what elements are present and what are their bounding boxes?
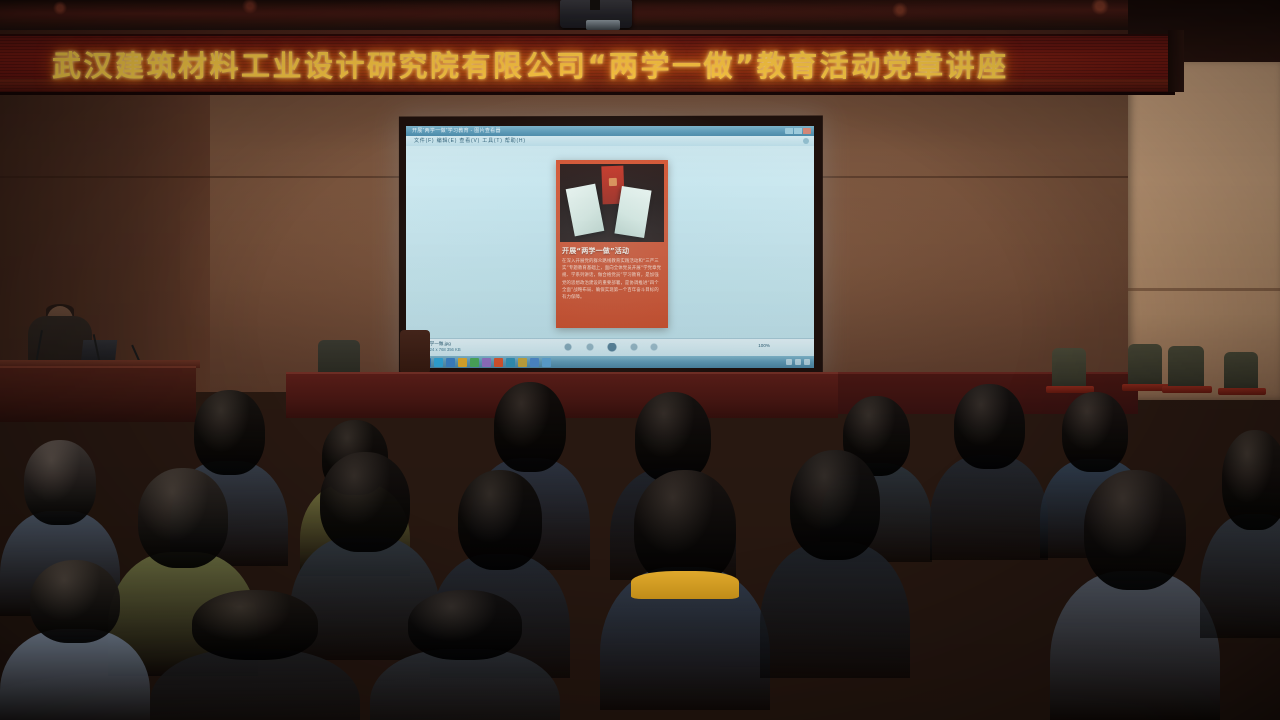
attendee-head [138,468,228,568]
attendee-head [194,390,265,475]
attendee-head [408,590,522,660]
attendee-glasses [1050,470,1220,710]
taskbar-app-icon[interactable] [446,358,455,367]
taskbar-app-icon[interactable] [518,358,527,367]
attendee-head [634,470,736,585]
podium [0,366,196,422]
seat-rail [1162,386,1212,393]
attendee-head [30,560,120,643]
taskbar-app-icon[interactable] [470,358,479,367]
toolbar-menu-items[interactable]: 文件(F) 编辑(E) 查看(V) 工具(T) 帮助(H) [414,137,526,144]
attendee-head [458,470,542,570]
attendee-head [790,450,880,560]
taskbar-app-icon[interactable] [494,358,503,367]
taskbar-app-icon[interactable] [542,358,551,367]
tray-icon[interactable] [786,359,792,365]
attendee-head [24,440,96,525]
attendee-head [1062,392,1128,472]
tray-icon[interactable] [804,359,810,365]
attendee-head [494,382,566,472]
taskbar-icon-group[interactable] [410,357,551,367]
poster-photo [560,164,664,242]
slide-poster: 开展“两学一做”活动 在深入开展党的群众路线教育实践活动和“三严三实”专题教育基… [556,160,668,328]
attendee-head [1084,470,1186,590]
window-title: 开展“两学一做”学习教育 - 图片查看器 [412,127,501,134]
conference-hall-photo: 武汉建筑材料工业设计研究院有限公司“两学一做”教育活动党章讲座 开展“两学一做”… [0,0,1280,720]
attendee-torso [1200,514,1280,638]
system-tray[interactable] [786,358,810,366]
taskbar-app-icon[interactable] [482,358,491,367]
attendee-foreground-head [150,590,360,720]
file-meta-label: 1024 x 768 356 KB [425,347,461,352]
led-banner: 武汉建筑材料工业设计研究院有限公司“两学一做”教育活动党章讲座 [0,34,1175,95]
taskbar-app-icon[interactable] [434,358,443,367]
projection-screen: 开展“两学一做”学习教育 - 图片查看器 文件(F) 编辑(E) 查看(V) 工… [406,126,814,368]
attendee-far-right [1200,430,1280,630]
yellow-collar [631,571,740,599]
ceiling-lights [0,0,1280,34]
zoom-level-label: 100% [758,343,770,348]
attendee-right-center [760,450,910,670]
seat-rail [1218,388,1266,395]
attendee-head [320,452,410,552]
banner-text: 武汉建筑材料工业设计研究院有限公司“两学一做”教育活动党章讲座 [52,43,1009,85]
taskbar-app-icon[interactable] [530,358,539,367]
attendee-torso [1050,571,1220,720]
viewer-controls[interactable] [556,343,666,352]
study-booklet-left-icon [566,184,605,237]
attendee-foreground-mid [370,590,560,720]
windows-taskbar[interactable] [406,356,814,368]
attendee-torso [930,455,1048,560]
poster-heading: 开展“两学一做”活动 [562,246,662,256]
help-icon[interactable] [803,138,809,144]
taskbar-app-icon[interactable] [458,358,467,367]
attendee-head [192,590,318,660]
attendee-back-row [930,384,1048,554]
stage-chair [318,340,360,374]
window-statusbar: 两学一做.jpg 1024 x 768 356 KB 100% [406,338,814,357]
attendee-head [1222,430,1280,530]
study-booklet-right-icon [614,186,651,238]
taskbar-app-icon[interactable] [506,358,515,367]
projector-lens-icon [586,20,620,30]
poster-body-text: 在深入开展党的群众路线教育实践活动和“三严三实”专题教育基础上，面向全体党员开展… [562,258,662,320]
attendee-torso [760,542,910,678]
window-titlebar: 开展“两学一做”学习教育 - 图片查看器 [406,126,814,136]
attendee-head [635,392,711,482]
attendee-yellow-collar [600,470,770,700]
slide-area: 开展“两学一做”活动 在深入开展党的群众路线教育实践活动和“三严三实”专题教育基… [406,146,814,338]
attendee-foreground-left [0,560,150,720]
projector-mount [590,0,600,10]
attendee-head [954,384,1025,469]
tray-icon[interactable] [795,359,801,365]
stage-chair [400,330,430,374]
window-controls[interactable] [785,128,811,134]
banner-edge-cap [1168,30,1184,92]
